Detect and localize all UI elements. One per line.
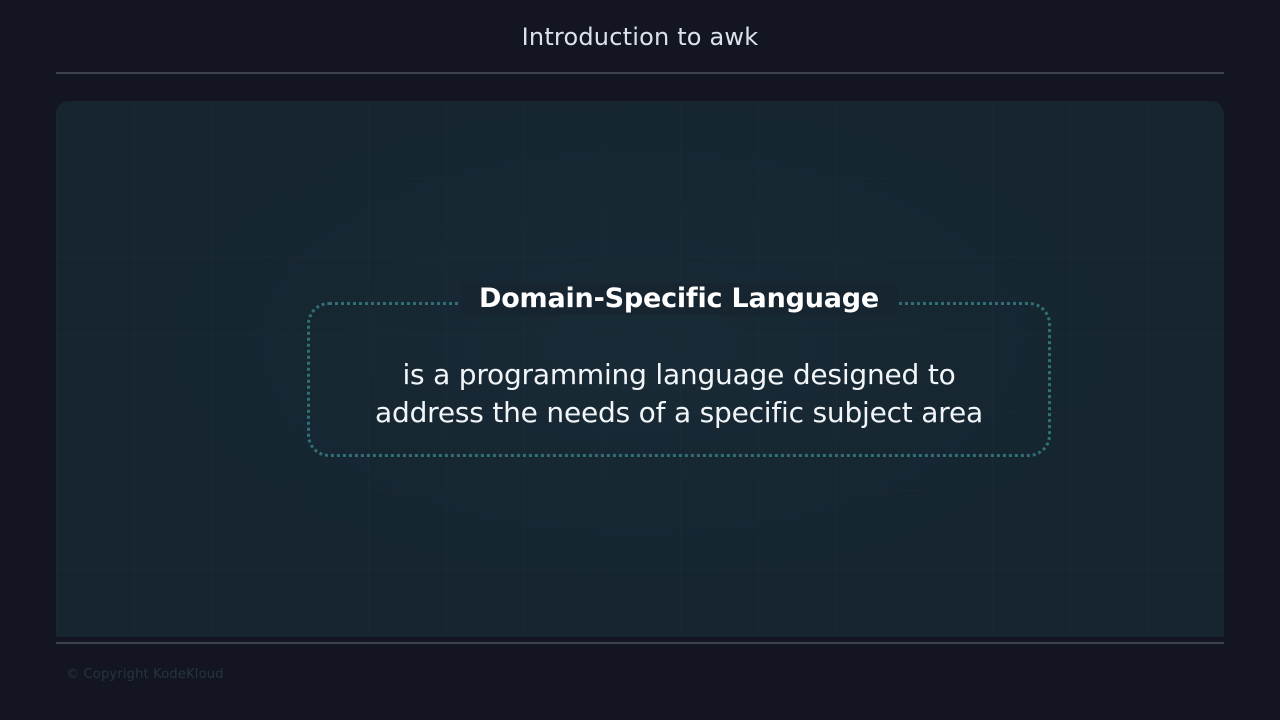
definition-term-label: Domain-Specific Language bbox=[461, 283, 897, 315]
slide-content-panel: Domain-Specific Language is a programmin… bbox=[56, 101, 1224, 637]
definition-body-text: is a programming language designed to ad… bbox=[310, 356, 1048, 432]
definition-body-line-1: is a programming language designed to bbox=[310, 356, 1048, 394]
slide-title: Introduction to awk bbox=[0, 0, 1280, 73]
definition-body-line-2: address the needs of a specific subject … bbox=[310, 394, 1048, 432]
footer-copyright: © Copyright KodeKloud bbox=[66, 667, 224, 682]
footer-divider bbox=[56, 642, 1224, 644]
definition-card: Domain-Specific Language is a programmin… bbox=[307, 302, 1051, 457]
title-divider bbox=[56, 72, 1224, 74]
